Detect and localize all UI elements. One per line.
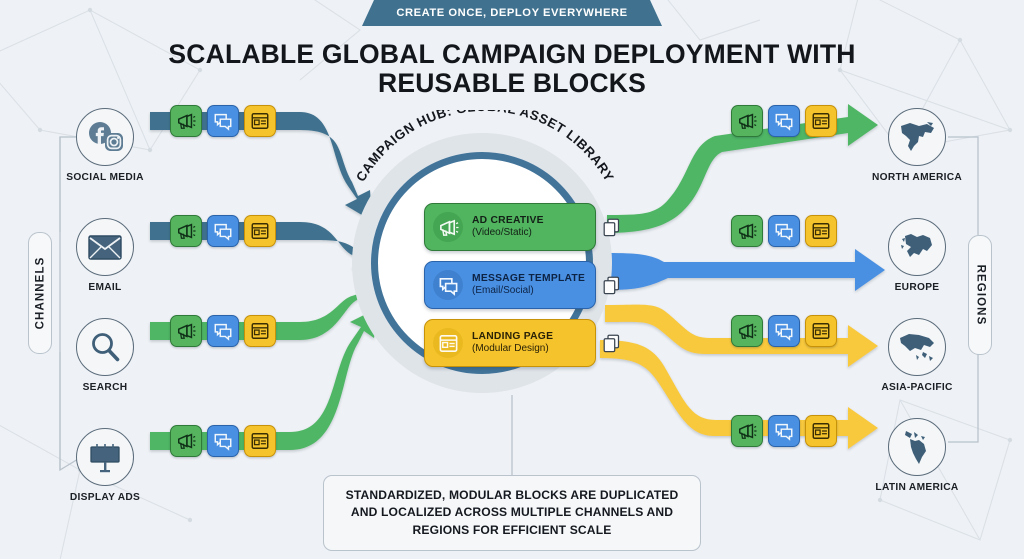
caption-line-1: STANDARDIZED, MODULAR BLOCKS ARE DUPLICA…: [346, 488, 679, 502]
megaphone-icon: [737, 111, 757, 131]
duplicate-icon[interactable]: [603, 334, 620, 353]
region-icon-ring: [888, 318, 946, 376]
megaphone-icon: [176, 321, 196, 341]
block-landing-page[interactable]: [244, 425, 276, 457]
chat-bubbles-icon: [774, 321, 794, 341]
web-page-icon: [250, 221, 270, 241]
infographic-canvas: CREATE ONCE, DEPLOY EVERYWHERE SCALABLE …: [0, 0, 1024, 559]
asset-card-subtitle: (Email/Social): [472, 285, 585, 297]
block-message-template[interactable]: [207, 315, 239, 347]
block-ad-creative[interactable]: [170, 105, 202, 137]
region-label: LATIN AMERICA: [853, 482, 981, 493]
channels-group-label: CHANNELS: [28, 232, 52, 354]
channel-label: SOCIAL MEDIA: [50, 172, 160, 183]
flow-arrow-europe: [608, 249, 885, 291]
region-node-europe[interactable]: EUROPE: [888, 218, 950, 280]
region-node-latin-america[interactable]: LATIN AMERICA: [888, 418, 950, 480]
channel-label: DISPLAY ADS: [50, 492, 160, 503]
channel-icon-ring: [76, 218, 134, 276]
block-trio-search: [170, 315, 276, 347]
megaphone-icon: [737, 321, 757, 341]
block-landing-page[interactable]: [244, 105, 276, 137]
top-banner-label: CREATE ONCE, DEPLOY EVERYWHERE: [396, 7, 627, 19]
block-message-template[interactable]: [207, 425, 239, 457]
block-trio-social-media: [170, 105, 276, 137]
page-title: SCALABLE GLOBAL CAMPAIGN DEPLOYMENT WITH…: [150, 40, 874, 98]
block-ad-creative[interactable]: [731, 315, 763, 347]
chat-bubbles-icon: [774, 421, 794, 441]
chat-bubbles-icon: [213, 321, 233, 341]
block-trio-north-america: [731, 105, 837, 137]
block-landing-page[interactable]: [805, 315, 837, 347]
channels-bracket: [60, 137, 106, 470]
chat-bubbles-icon: [774, 221, 794, 241]
block-landing-page[interactable]: [805, 215, 837, 247]
region-label: ASIA-PACIFIC: [853, 382, 981, 393]
megaphone-icon: [737, 221, 757, 241]
hub-arc-text: CAMPAIGN HUB: GLOBAL ASSET LIBRARY: [353, 110, 617, 184]
block-trio-email: [170, 215, 276, 247]
asset-card-title: LANDING PAGE: [472, 331, 553, 343]
duplicate-icon[interactable]: [603, 276, 620, 295]
block-ad-creative[interactable]: [731, 415, 763, 447]
top-banner: CREATE ONCE, DEPLOY EVERYWHERE: [362, 0, 662, 26]
regions-group-label: REGIONS: [968, 235, 992, 355]
block-ad-creative[interactable]: [731, 105, 763, 137]
web-page-icon: [250, 431, 270, 451]
channel-icon-ring: [76, 428, 134, 486]
block-landing-page[interactable]: [244, 315, 276, 347]
asset-card-ad-creative[interactable]: AD CREATIVE (Video/Static): [424, 203, 596, 251]
block-message-template[interactable]: [207, 215, 239, 247]
duplicate-icon[interactable]: [603, 218, 620, 237]
page-title-line-1: SCALABLE GLOBAL CAMPAIGN DEPLOYMENT WITH: [150, 40, 874, 69]
region-icon-ring: [888, 218, 946, 276]
channel-icon-ring: [76, 318, 134, 376]
block-ad-creative[interactable]: [170, 425, 202, 457]
web-page-icon: [811, 321, 831, 341]
europe-map-icon: [899, 231, 935, 263]
block-message-template[interactable]: [768, 215, 800, 247]
block-message-template[interactable]: [768, 415, 800, 447]
page-title-line-2: REUSABLE BLOCKS: [150, 69, 874, 98]
channel-node-display-ads[interactable]: DISPLAY ADS: [76, 428, 138, 490]
region-node-asia-pacific[interactable]: ASIA-PACIFIC: [888, 318, 950, 380]
chat-bubbles-icon: [213, 431, 233, 451]
block-landing-page[interactable]: [805, 105, 837, 137]
block-trio-latin-america: [731, 415, 837, 447]
asset-card-landing-page[interactable]: LANDING PAGE (Modular Design): [424, 319, 596, 367]
facebook-instagram-icon: [86, 120, 124, 154]
megaphone-icon: [176, 221, 196, 241]
asia-pacific-map-icon: [897, 331, 937, 363]
chat-bubbles-icon: [213, 111, 233, 131]
region-icon-ring: [888, 108, 946, 166]
block-ad-creative[interactable]: [731, 215, 763, 247]
web-page-icon: [811, 111, 831, 131]
envelope-icon: [88, 234, 122, 260]
channel-label: SEARCH: [50, 382, 160, 393]
svg-text:CAMPAIGN HUB: GLOBAL ASSET LIB: CAMPAIGN HUB: GLOBAL ASSET LIBRARY: [353, 110, 617, 184]
block-message-template[interactable]: [768, 315, 800, 347]
chat-bubbles-icon: [213, 221, 233, 241]
block-message-template[interactable]: [768, 105, 800, 137]
block-message-template[interactable]: [207, 105, 239, 137]
asset-card-subtitle: (Modular Design): [472, 343, 553, 355]
asset-card-subtitle: (Video/Static): [472, 227, 544, 239]
billboard-icon: [88, 441, 122, 473]
megaphone-icon: [737, 421, 757, 441]
asset-card-title: MESSAGE TEMPLATE: [472, 273, 585, 285]
region-node-north-america[interactable]: NORTH AMERICA: [888, 108, 950, 170]
asset-card-title: AD CREATIVE: [472, 215, 544, 227]
channel-node-search[interactable]: SEARCH: [76, 318, 138, 380]
block-ad-creative[interactable]: [170, 315, 202, 347]
latin-america-map-icon: [901, 428, 933, 466]
channel-icon-ring: [76, 108, 134, 166]
block-trio-asia-pacific: [731, 315, 837, 347]
regions-group-text: REGIONS: [974, 265, 986, 326]
region-label: EUROPE: [853, 282, 981, 293]
block-ad-creative[interactable]: [170, 215, 202, 247]
region-label: NORTH AMERICA: [853, 172, 981, 183]
channel-node-social-media[interactable]: SOCIAL MEDIA: [76, 108, 138, 170]
web-page-icon: [250, 111, 270, 131]
asset-card-message-template[interactable]: MESSAGE TEMPLATE (Email/Social): [424, 261, 596, 309]
block-trio-display-ads: [170, 425, 276, 457]
block-landing-page[interactable]: [805, 415, 837, 447]
block-trio-europe: [731, 215, 837, 247]
magnifier-icon: [89, 331, 121, 363]
chat-bubbles-icon: [433, 270, 463, 300]
footer-caption: STANDARDIZED, MODULAR BLOCKS ARE DUPLICA…: [323, 475, 701, 551]
channel-node-email[interactable]: EMAIL: [76, 218, 138, 280]
megaphone-icon: [176, 431, 196, 451]
megaphone-icon: [433, 212, 463, 242]
chat-bubbles-icon: [774, 111, 794, 131]
web-page-icon: [250, 321, 270, 341]
channel-label: EMAIL: [50, 282, 160, 293]
megaphone-icon: [176, 111, 196, 131]
caption-line-3: REGIONS FOR EFFICIENT SCALE: [413, 523, 612, 537]
block-landing-page[interactable]: [244, 215, 276, 247]
web-page-icon: [811, 221, 831, 241]
region-icon-ring: [888, 418, 946, 476]
web-page-icon: [811, 421, 831, 441]
north-america-map-icon: [897, 120, 937, 154]
channels-group-text: CHANNELS: [34, 257, 46, 330]
web-page-icon: [433, 328, 463, 358]
caption-line-2: AND LOCALIZED ACROSS MULTIPLE CHANNELS A…: [351, 505, 673, 519]
